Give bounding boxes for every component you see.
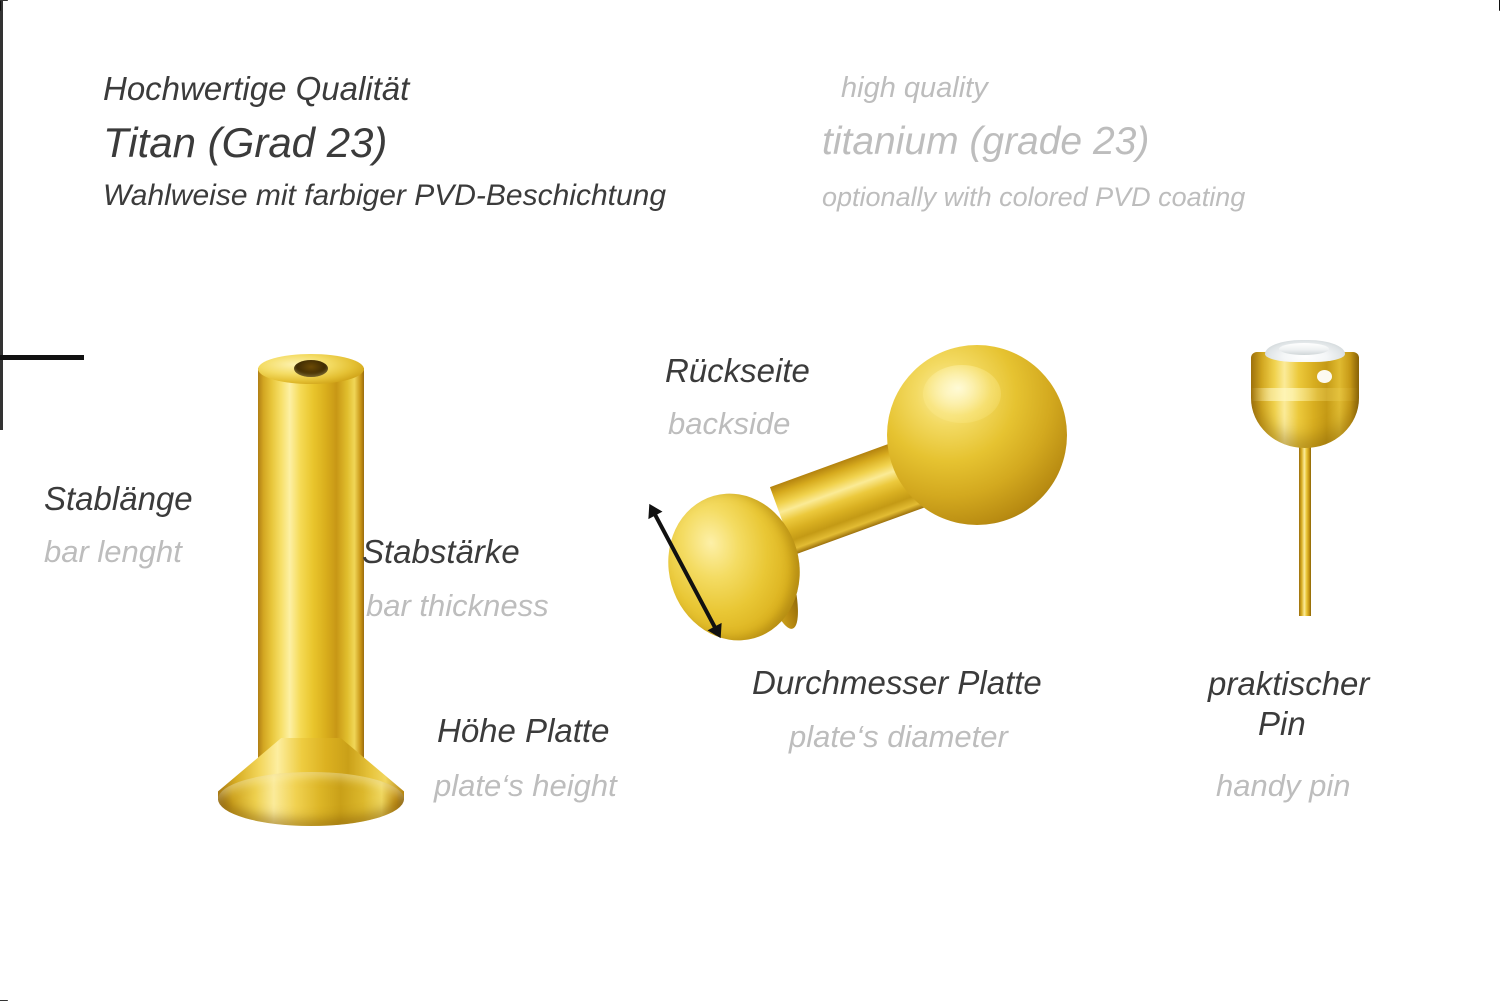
dome-highlight	[1251, 388, 1359, 401]
labret-bar-vertical-image	[214, 352, 424, 812]
bar-thickness-arrow	[0, 355, 84, 360]
header-english-line3: optionally with colored PVD coating	[822, 182, 1245, 213]
plate-height-label-english: plate‘s height	[434, 768, 617, 804]
backside-label-english: backside	[668, 406, 790, 442]
backside-label-german: Rückseite	[665, 352, 810, 390]
plate-height-arrow	[0, 360, 3, 430]
product-diagram-canvas: Hochwertige Qualität Titan (Grad 23) Wah…	[0, 0, 1500, 1001]
ball-highlight	[923, 365, 1001, 423]
header-german-line1: Hochwertige Qualität	[103, 70, 409, 108]
bar-length-label-german: Stablänge	[44, 480, 193, 518]
header-english-line1: high quality	[841, 72, 988, 105]
base-plate	[218, 738, 404, 828]
plate-diameter-label-english: plate‘s diameter	[789, 719, 1008, 755]
header-english-line2: titanium (grade 23)	[822, 120, 1149, 165]
crystal-facets	[1279, 343, 1329, 355]
bar-shaft	[258, 368, 364, 768]
threaded-hole	[294, 360, 328, 377]
bar-length-label-english: bar lenght	[44, 534, 182, 570]
crystal-pin-image	[1233, 340, 1373, 630]
handy-pin-label-english: handy pin	[1216, 768, 1350, 804]
base-disc	[218, 772, 404, 826]
dome-specular-dot	[1317, 370, 1332, 383]
handy-pin-label-german-line1: praktischer	[1208, 665, 1369, 703]
bar-length-arrow	[0, 0, 3, 355]
header-german-line3: Wahlweise mit farbiger PVD-Beschichtung	[103, 179, 666, 214]
plate-diameter-label-german: Durchmesser Platte	[752, 664, 1042, 702]
bar-thickness-label-german: Stabstärke	[362, 533, 520, 571]
plate-height-label-german: Höhe Platte	[437, 712, 609, 750]
handy-pin-label-german-line2: Pin	[1258, 705, 1306, 743]
header-german-line2: Titan (Grad 23)	[103, 119, 387, 167]
pin-shaft	[1299, 444, 1311, 616]
bar-thickness-label-english: bar thickness	[366, 588, 549, 624]
